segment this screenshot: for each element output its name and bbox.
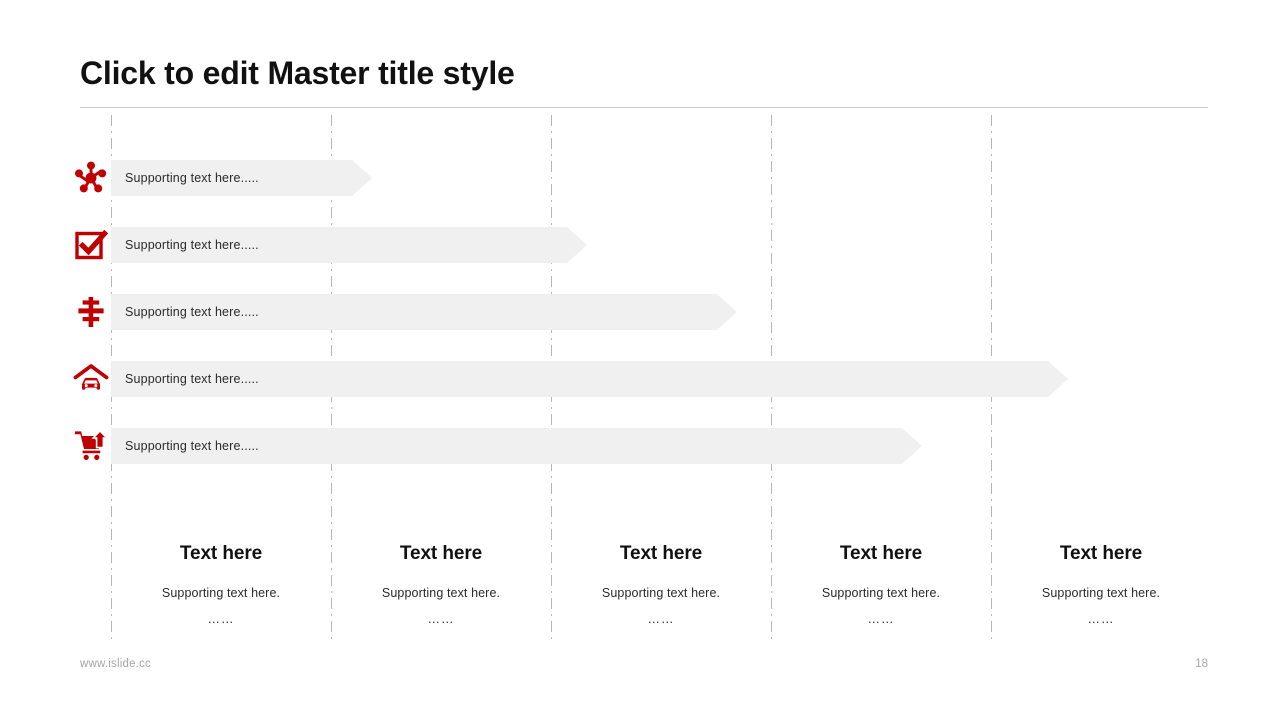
legend-ellipsis: …… [341,612,541,626]
legend-subtext: Supporting text here. [561,585,761,602]
legend-subtext: Supporting text here. [1001,585,1201,602]
title-block: Click to edit Master title style [80,53,1210,103]
legend-ellipsis: …… [1001,612,1201,626]
footer-page-number: 18 [1160,658,1208,670]
stage-bar-3[interactable]: Supporting text here..... [111,294,737,330]
legend-ellipsis: …… [561,612,761,626]
legend-heading: Text here [341,541,541,567]
legend-heading: Text here [561,541,761,567]
legend-ellipsis: …… [781,612,981,626]
legend-subtext: Supporting text here. [341,585,541,602]
car-garage-icon [72,360,110,398]
legend-column-2[interactable]: Text here Supporting text here. …… [341,541,541,626]
title-divider [80,107,1208,108]
molecule-icon [72,159,110,197]
stage-bar-2-label: Supporting text here..... [125,238,259,252]
stage-bar-4-label: Supporting text here..... [125,372,259,386]
legend-heading: Text here [781,541,981,567]
legend-column-3[interactable]: Text here Supporting text here. …… [561,541,761,626]
legend-heading: Text here [1001,541,1201,567]
cart-upload-icon [72,427,110,465]
legend-column-5[interactable]: Text here Supporting text here. …… [1001,541,1201,626]
legend-heading: Text here [121,541,321,567]
stage-bar-4[interactable]: Supporting text here..... [111,361,1068,397]
stage-bar-2[interactable]: Supporting text here..... [111,227,587,263]
page-title[interactable]: Click to edit Master title style [80,53,1210,93]
legend-column-4[interactable]: Text here Supporting text here. …… [781,541,981,626]
legend-ellipsis: …… [121,612,321,626]
slide-canvas: Click to edit Master title style [0,0,1280,720]
legend-subtext: Supporting text here. [781,585,981,602]
legend-column-1[interactable]: Text here Supporting text here. …… [121,541,321,626]
stage-bar-1[interactable]: Supporting text here..... [111,160,372,196]
stage-bar-5[interactable]: Supporting text here..... [111,428,922,464]
signpost-icon [72,293,110,331]
stage-bar-5-label: Supporting text here..... [125,439,259,453]
stage-bar-3-label: Supporting text here..... [125,305,259,319]
legend-subtext: Supporting text here. [121,585,321,602]
checkbox-check-icon [72,226,110,264]
stage-bar-1-label: Supporting text here..... [125,171,259,185]
footer-url[interactable]: www.islide.cc [80,658,151,670]
